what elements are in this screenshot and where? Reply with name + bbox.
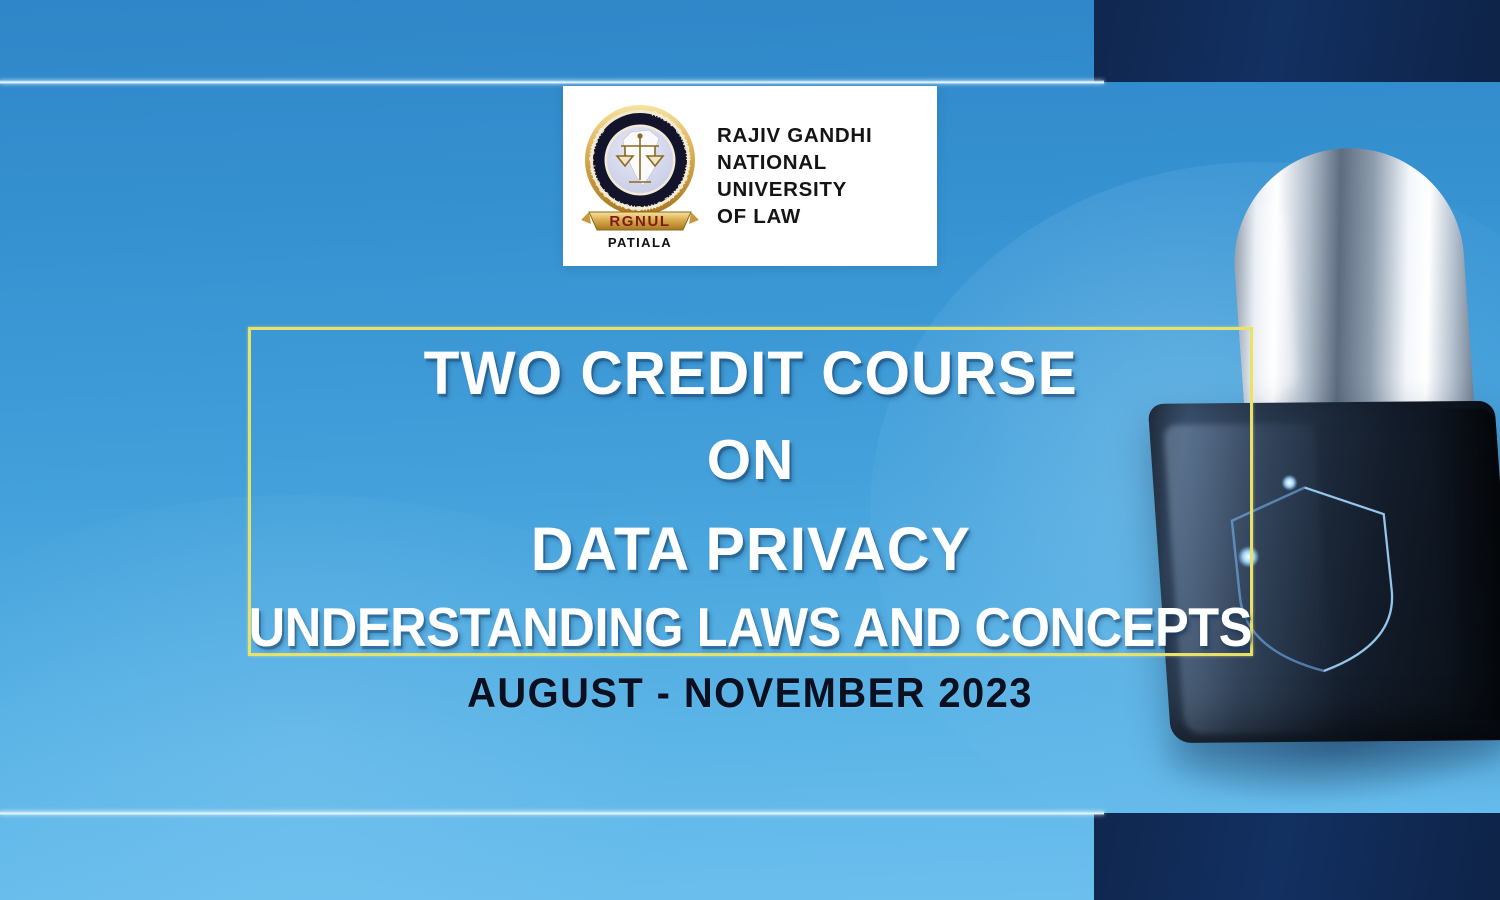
- rgnul-crest-icon: RAJIV GANDHI NATIONAL UNIVERSITY OF LAW,…: [579, 100, 701, 252]
- title-line-on: ON: [707, 432, 795, 489]
- course-date-range: AUGUST - NOVEMBER 2023: [38, 669, 1463, 717]
- university-name-line: UNIVERSITY: [717, 176, 872, 203]
- title-line-course: TWO CREDIT COURSE: [424, 343, 1078, 404]
- title-line-subtitle: UNDERSTANDING LAWS AND CONCEPTS: [249, 600, 1252, 655]
- title-line-topic: DATA PRIVACY: [530, 519, 970, 580]
- title-block: TWO CREDIT COURSE ON DATA PRIVACY UNDERS…: [248, 327, 1253, 656]
- padlock-shackle-icon: [1227, 140, 1477, 445]
- university-logo-card: RAJIV GANDHI NATIONAL UNIVERSITY OF LAW,…: [563, 86, 937, 266]
- divider-line-bottom: [0, 811, 1104, 815]
- corner-block-bottom-right: [1094, 813, 1500, 900]
- svg-text:PATIALA: PATIALA: [608, 235, 672, 250]
- course-promo-banner: RAJIV GANDHI NATIONAL UNIVERSITY OF LAW,…: [0, 0, 1500, 900]
- university-name: RAJIV GANDHI NATIONAL UNIVERSITY OF LAW: [717, 122, 872, 230]
- svg-text:RGNUL: RGNUL: [609, 213, 670, 230]
- university-name-line: NATIONAL: [717, 149, 872, 176]
- university-name-line: OF LAW: [717, 203, 872, 230]
- university-name-line: RAJIV GANDHI: [717, 122, 872, 149]
- corner-block-top-right: [1094, 0, 1500, 82]
- divider-line-top: [0, 80, 1104, 84]
